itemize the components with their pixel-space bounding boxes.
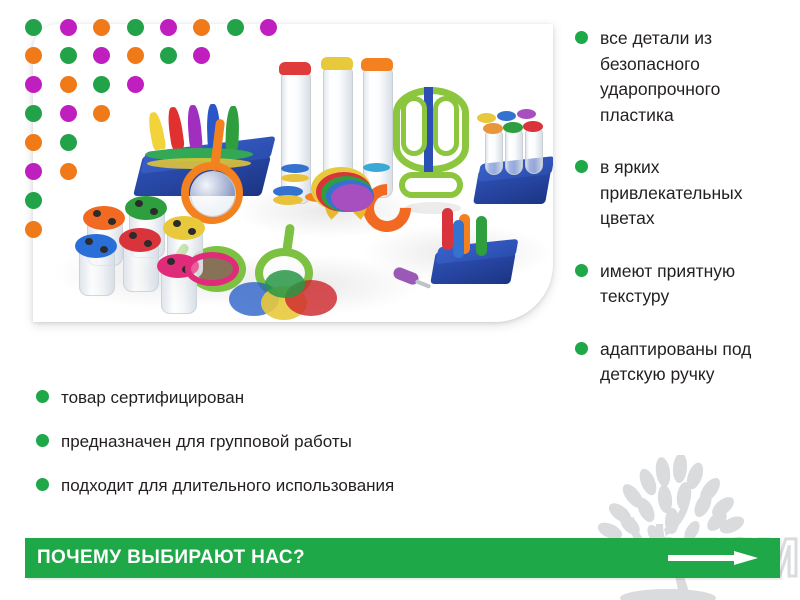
decorative-dot <box>60 76 77 93</box>
slide-root: все детали из безопасного ударопрочного … <box>0 0 800 600</box>
decorative-dot <box>93 47 110 64</box>
bullet-dot-icon <box>575 160 588 173</box>
features-list-left: товар сертифицирован предназначен для гр… <box>36 386 536 518</box>
list-item: предназначен для групповой работы <box>36 430 536 453</box>
list-item-label: все детали из безопасного ударопрочного … <box>600 26 790 128</box>
decorative-dot <box>260 19 277 36</box>
bullet-dot-icon <box>575 264 588 277</box>
list-item-label: в ярких привлекательных цветах <box>600 155 790 232</box>
list-item: в ярких привлекательных цветах <box>575 155 790 232</box>
decorative-dot <box>25 134 42 151</box>
decorative-dot <box>193 47 210 64</box>
bottom-banner: ПОЧЕМУ ВЫБИРАЮТ НАС? <box>25 538 780 578</box>
decorative-dot <box>93 105 110 122</box>
list-item-label: предназначен для групповой работы <box>61 430 352 453</box>
list-item-label: имеют приятную текстуру <box>600 259 790 310</box>
list-item: все детали из безопасного ударопрочного … <box>575 26 790 128</box>
decorative-dot <box>25 221 42 238</box>
decorative-dot <box>160 47 177 64</box>
banner-title: ПОЧЕМУ ВЫБИРАЮТ НАС? <box>37 547 305 569</box>
decorative-dot <box>127 76 144 93</box>
bullet-dot-icon <box>36 390 49 403</box>
features-list-right: все детали из безопасного ударопрочного … <box>575 26 790 415</box>
decorative-dot <box>25 163 42 180</box>
decorative-dot <box>93 19 110 36</box>
list-item: подходит для длительного использования <box>36 474 536 497</box>
decorative-dot <box>127 19 144 36</box>
decorative-dot <box>193 19 210 36</box>
bullet-dot-icon <box>575 342 588 355</box>
decorative-dot <box>160 19 177 36</box>
list-item-label: подходит для длительного использования <box>61 474 394 497</box>
decorative-dot <box>25 47 42 64</box>
list-item-label: адаптированы под детскую ручку <box>600 337 790 388</box>
arrow-right-icon[interactable] <box>668 551 758 565</box>
decorative-dot <box>60 47 77 64</box>
bullet-dot-icon <box>36 478 49 491</box>
decorative-dot <box>25 76 42 93</box>
decorative-dot-grid <box>0 0 300 280</box>
decorative-dot <box>25 19 42 36</box>
list-item: имеют приятную текстуру <box>575 259 790 310</box>
decorative-dot <box>60 134 77 151</box>
decorative-dot <box>60 19 77 36</box>
decorative-dot <box>227 19 244 36</box>
bullet-dot-icon <box>36 434 49 447</box>
list-item: адаптированы под детскую ручку <box>575 337 790 388</box>
decorative-dot <box>25 192 42 209</box>
decorative-dot <box>127 47 144 64</box>
decorative-dot <box>25 105 42 122</box>
list-item: товар сертифицирован <box>36 386 536 409</box>
decorative-dot <box>60 163 77 180</box>
list-item-label: товар сертифицирован <box>61 386 244 409</box>
decorative-dot <box>93 76 110 93</box>
decorative-dot <box>60 105 77 122</box>
bullet-dot-icon <box>575 31 588 44</box>
